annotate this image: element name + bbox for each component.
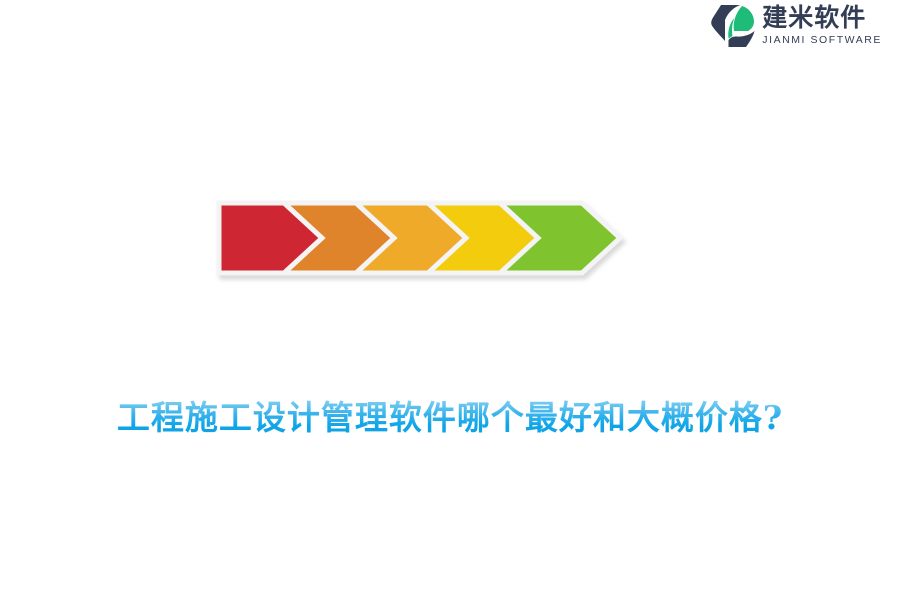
five-step-chevron-arrows <box>196 180 656 295</box>
brand-text-block: 建米软件 JIANMI SOFTWARE <box>762 6 882 46</box>
jianmi-logo-mark-icon <box>710 4 756 48</box>
page-title: 工程施工设计管理软件哪个最好和大概价格? <box>0 397 900 438</box>
brand-name-en: JIANMI SOFTWARE <box>762 35 882 46</box>
brand-header: 建米软件 JIANMI SOFTWARE <box>670 0 900 52</box>
brand-name-cn: 建米软件 <box>762 6 866 31</box>
